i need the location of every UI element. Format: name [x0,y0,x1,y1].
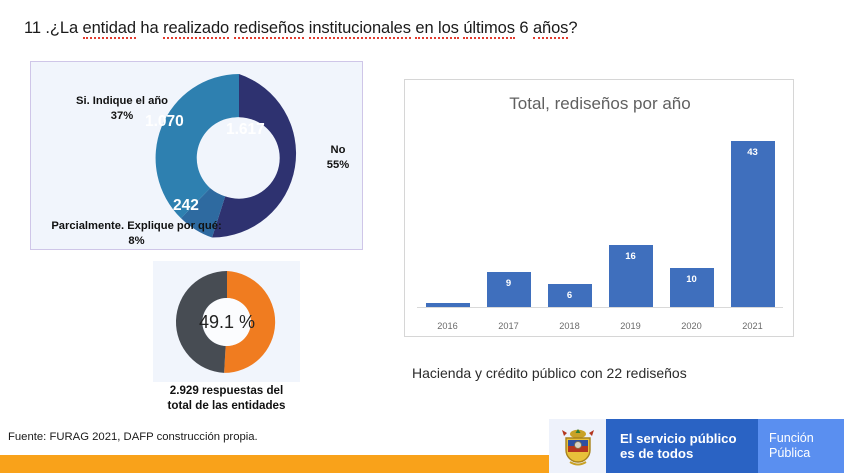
bar-group-2017: 92017 [480,111,538,307]
donut-label-parcial-pct: 8% [29,234,244,249]
small-donut-chart: 49.1 % [172,267,282,377]
donut-value-no: 1.617 [226,121,265,139]
donut-label-parcial-text: Parcialmente. Explique por qué: [29,219,244,234]
bar-category-2019: 2019 [602,321,660,331]
small-donut-center-value: 49.1 % [172,267,282,377]
footer-brand-line1: Función [769,431,844,446]
footer-brand: Función Pública [758,419,844,473]
bar-category-2020: 2020 [663,321,721,331]
small-donut-panel: 49.1 % [153,261,300,382]
bar-chart-plot: 20169201762018162019102020432021 [405,80,795,338]
donut-label-si: Si. Indique el año 37% [57,94,187,124]
bar-value-2019: 16 [602,251,660,262]
bar-category-2017: 2017 [480,321,538,331]
bar-group-2018: 62018 [541,111,599,307]
footer-brand-line2: Pública [769,446,844,461]
bar-group-2020: 102020 [663,111,721,307]
small-donut-caption: 2.929 respuestas del total de las entida… [150,383,303,414]
bar-value-2020: 10 [663,274,721,285]
bar-category-2018: 2018 [541,321,599,331]
footer-slogan-line1: El servicio público [620,431,758,446]
donut-value-parcial: 242 [173,197,199,215]
donut-label-si-pct: 37% [57,109,187,124]
donut-label-no: No 55% [315,143,361,173]
bar-chart-panel: Total, rediseños por año 201692017620181… [404,79,794,337]
main-donut-panel: 1.617 1.070 242 Si. Indique el año 37% P… [30,61,363,250]
coat-of-arms-svg [561,426,595,466]
bar-category-2021: 2021 [724,321,782,331]
donut-label-no-pct: 55% [315,158,361,173]
bar-2021[interactable] [731,141,775,307]
footer-slogan-line2: es de todos [620,446,758,461]
source-note: Fuente: FURAG 2021, DAFP construcción pr… [8,431,258,443]
bar-group-2016: 2016 [419,111,477,307]
bar-value-2017: 9 [480,278,538,289]
small-donut-caption-line1: 2.929 respuestas del [150,383,303,398]
donut-label-si-text: Si. Indique el año [57,94,187,109]
small-donut-caption-line2: total de las entidades [150,398,303,413]
footer-logo: El servicio público es de todos Función … [549,419,844,473]
colombia-crest-icon [549,419,606,473]
bar-value-2021: 43 [724,147,782,158]
slide-canvas: 11 .¿La entidad ha realizado rediseños i… [0,0,844,473]
donut-label-no-text: No [315,143,361,158]
bar-2016[interactable] [426,303,470,307]
page-title: 11 .¿La entidad ha realizado rediseños i… [24,19,577,38]
bar-group-2019: 162019 [602,111,660,307]
donut-label-parcial: Parcialmente. Explique por qué: 8% [29,219,244,249]
bar-value-2018: 6 [541,290,599,301]
title-text: 11 .¿La entidad ha realizado rediseños i… [24,19,577,39]
footer-slogan: El servicio público es de todos [606,419,758,473]
bar-chart-note: Hacienda y crédito público con 22 redise… [412,365,687,381]
bar-category-2016: 2016 [419,321,477,331]
bar-group-2021: 432021 [724,111,782,307]
